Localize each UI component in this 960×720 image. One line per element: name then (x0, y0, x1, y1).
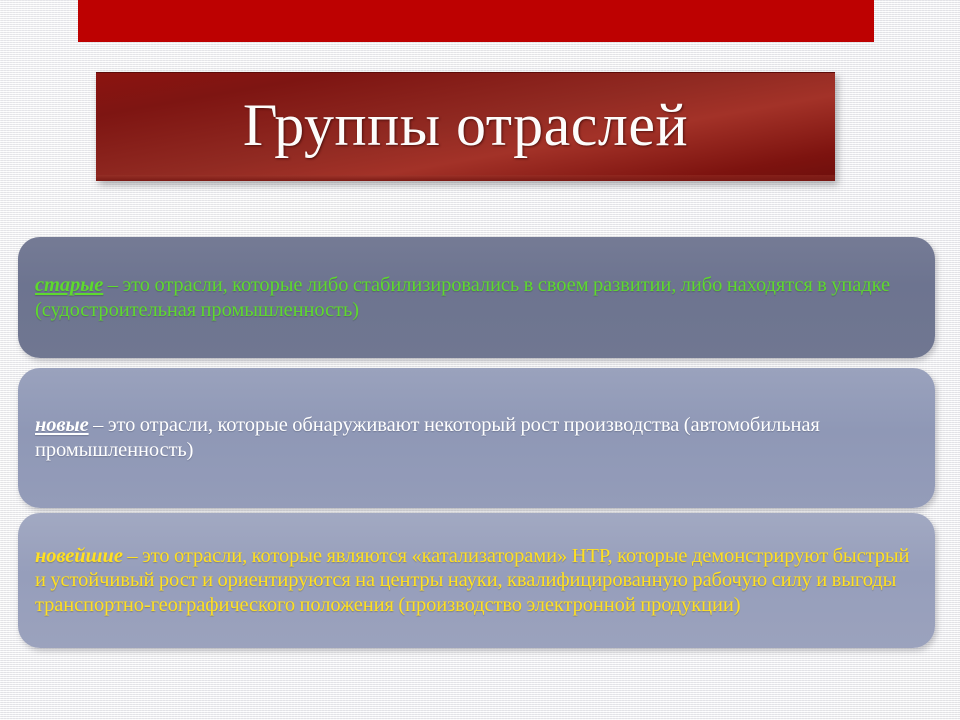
content-box-newest: новейшие – это отрасли, которые являются… (18, 513, 935, 648)
content-box-old: старые – это отрасли, которые либо стаби… (18, 237, 935, 358)
definition-newest: – это отрасли, которые являются «катализ… (35, 545, 909, 616)
term-old: старые (35, 274, 103, 296)
content-text-old: старые – это отрасли, которые либо стаби… (35, 273, 919, 322)
top-red-banner (78, 0, 874, 42)
slide-canvas: Группы отраслей старые – это отрасли, ко… (0, 0, 960, 720)
page-title: Группы отраслей (243, 95, 688, 159)
definition-old: – это отрасли, которые либо стабилизиров… (35, 274, 890, 321)
content-text-new: новые – это отрасли, которые обнаруживаю… (35, 413, 919, 462)
content-box-new: новые – это отрасли, которые обнаруживаю… (18, 368, 935, 508)
term-newest: новейшие (35, 545, 123, 567)
definition-new: – это отрасли, которые обнаруживают неко… (35, 414, 820, 461)
content-text-newest: новейшие – это отрасли, которые являются… (35, 544, 919, 618)
term-new: новые (35, 414, 89, 436)
title-plaque: Группы отраслей (96, 72, 835, 181)
